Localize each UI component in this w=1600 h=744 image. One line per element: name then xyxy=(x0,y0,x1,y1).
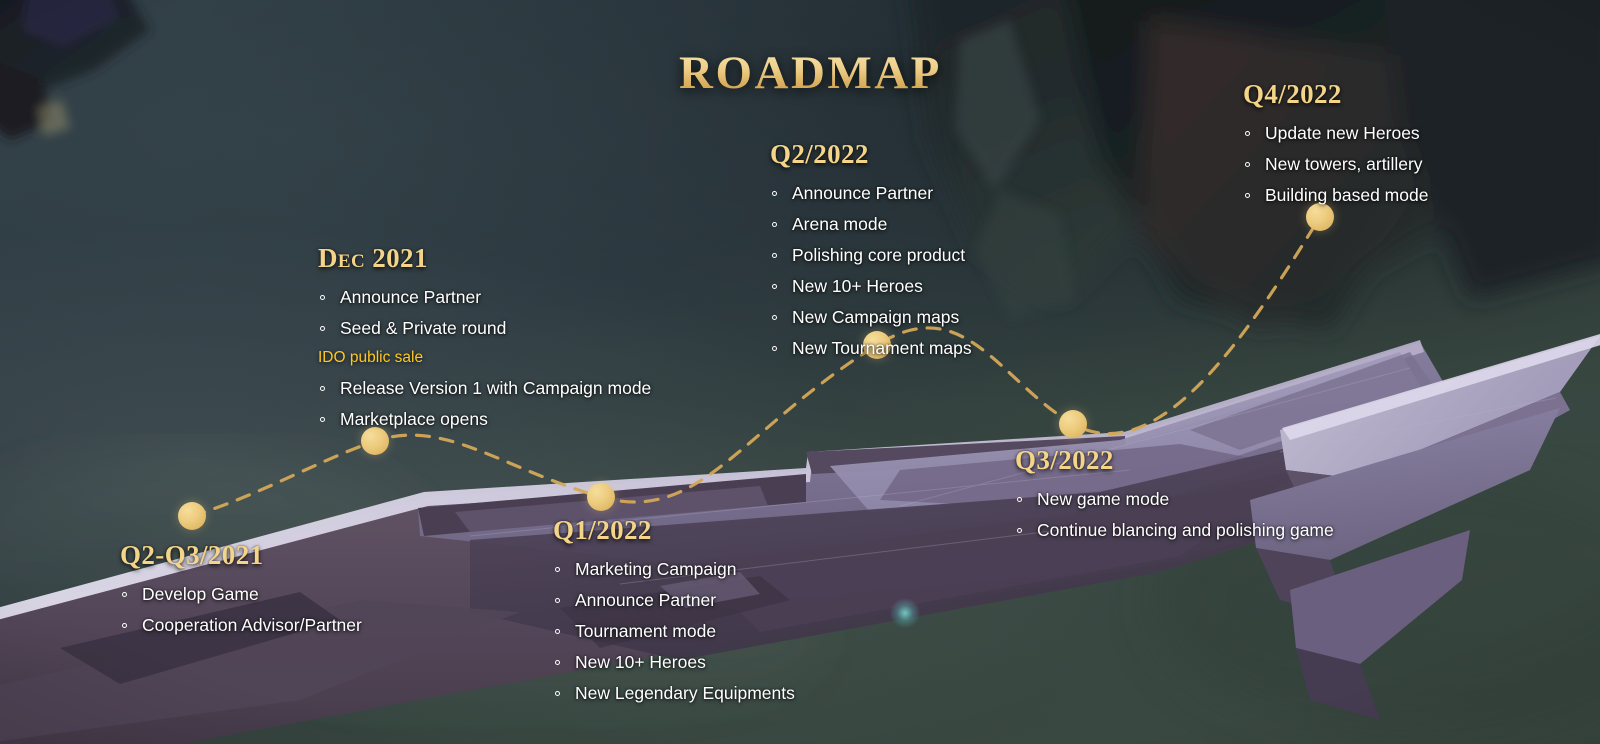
list-item: New Campaign maps xyxy=(770,306,972,329)
milestone-title-q3-2022: Q3/2022 xyxy=(1015,445,1334,476)
milestone-item-list-q4-2022: Update new HeroesNew towers, artilleryBu… xyxy=(1243,122,1428,207)
list-item: Continue blancing and polishing game xyxy=(1015,519,1334,542)
list-item: Develop Game xyxy=(120,583,362,606)
list-item: Announce Partner xyxy=(318,286,651,309)
list-item: Announce Partner xyxy=(553,589,795,612)
list-item: Cooperation Advisor/Partner xyxy=(120,614,362,637)
list-item: New towers, artillery xyxy=(1243,153,1428,176)
list-item: Building based mode xyxy=(1243,184,1428,207)
milestone-note-dec-2021: IDO public sale xyxy=(318,348,651,368)
milestone-dot-q2-q3-2021[interactable] xyxy=(178,502,206,530)
milestone-title-q1-2022: Q1/2022 xyxy=(553,515,795,546)
milestone-item-list-q2-q3-2021: Develop GameCooperation Advisor/Partner xyxy=(120,583,362,637)
list-item: Marketing Campaign xyxy=(553,558,795,581)
page-title: ROADMAP xyxy=(679,48,942,98)
milestone-title-dec-2021: Dec 2021 xyxy=(318,243,651,274)
milestone-block-q3-2022: Q3/2022New game modeContinue blancing an… xyxy=(1015,445,1334,550)
milestone-item-list-q3-2022: New game modeContinue blancing and polis… xyxy=(1015,488,1334,542)
list-item: Tournament mode xyxy=(553,620,795,643)
milestone-item-list-dec-2021: Announce PartnerSeed & Private round xyxy=(318,286,651,340)
milestone-dot-q1-2022[interactable] xyxy=(587,483,615,511)
list-item: New Legendary Equipments xyxy=(553,682,795,705)
list-item: Polishing core product xyxy=(770,244,972,267)
milestone-block-q2-q3-2021: Q2-Q3/2021Develop GameCooperation Adviso… xyxy=(120,540,362,645)
milestone-block-q2-2022: Q2/2022Announce PartnerArena modePolishi… xyxy=(770,139,972,368)
list-item: New 10+ Heroes xyxy=(553,651,795,674)
milestone-item-list-q1-2022: Marketing CampaignAnnounce PartnerTourna… xyxy=(553,558,795,705)
milestone-item-list-dec-2021-after: Release Version 1 with Campaign modeMark… xyxy=(318,377,651,431)
list-item: New game mode xyxy=(1015,488,1334,511)
list-item: Marketplace opens xyxy=(318,408,651,431)
roadmap-infographic: ROADMAP Q2-Q3/2021Develop GameCooperatio… xyxy=(0,0,1600,744)
list-item: New 10+ Heroes xyxy=(770,275,972,298)
list-item: Announce Partner xyxy=(770,182,972,205)
milestone-title-q2-2022: Q2/2022 xyxy=(770,139,972,170)
list-item: Seed & Private round xyxy=(318,317,651,340)
milestone-title-q4-2022: Q4/2022 xyxy=(1243,79,1428,110)
milestone-block-q4-2022: Q4/2022Update new HeroesNew towers, arti… xyxy=(1243,79,1428,215)
milestone-block-dec-2021: Dec 2021Announce PartnerSeed & Private r… xyxy=(318,243,651,439)
list-item: Arena mode xyxy=(770,213,972,236)
milestone-block-q1-2022: Q1/2022Marketing CampaignAnnounce Partne… xyxy=(553,515,795,713)
list-item: Release Version 1 with Campaign mode xyxy=(318,377,651,400)
list-item: New Tournament maps xyxy=(770,337,972,360)
milestone-title-q2-q3-2021: Q2-Q3/2021 xyxy=(120,540,362,571)
list-item: Update new Heroes xyxy=(1243,122,1428,145)
milestone-item-list-q2-2022: Announce PartnerArena modePolishing core… xyxy=(770,182,972,360)
milestone-dot-q3-2022[interactable] xyxy=(1059,410,1087,438)
